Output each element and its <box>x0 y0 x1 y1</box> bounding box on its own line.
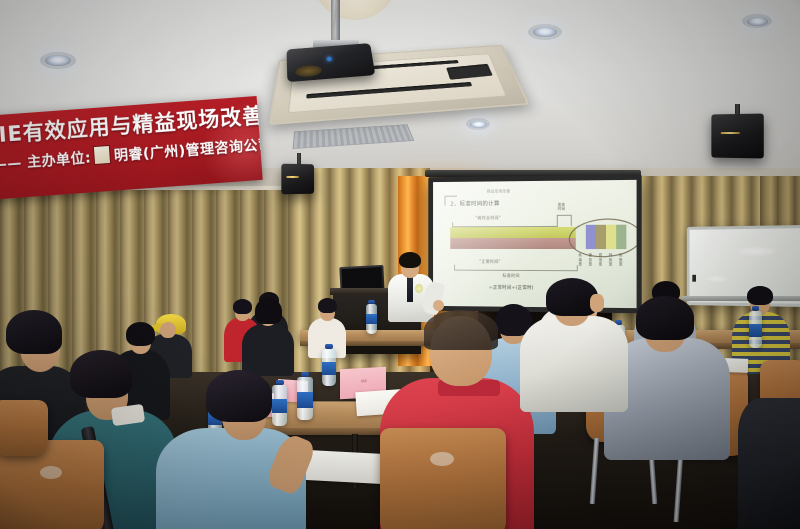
speaker-logo-right <box>721 132 740 134</box>
slide-highlight-ellipse <box>568 217 637 259</box>
attendee-hair <box>636 296 694 340</box>
slide-topright-tick <box>557 215 572 226</box>
slide-top-measure-line <box>452 222 558 227</box>
attendee-hair <box>255 298 282 324</box>
speaker-logo-left <box>286 176 299 178</box>
slide-bar-segment-bottom <box>450 238 576 249</box>
slide-title-bracket <box>445 196 457 206</box>
organizer-logo-icon <box>93 145 111 165</box>
slide-bar-segment-allowance <box>576 227 587 249</box>
whiteboard-glare-secondary <box>706 276 727 282</box>
chair-front-center <box>380 428 506 529</box>
chair-mid-left <box>0 400 48 456</box>
water-bottle-3 <box>272 380 287 426</box>
presenter-tie <box>407 276 413 302</box>
attendee-head <box>160 322 176 338</box>
bottle-label <box>749 324 762 337</box>
attendee-hair <box>6 310 62 354</box>
allowance-segment-1 <box>576 225 586 249</box>
bottle-label <box>297 392 313 408</box>
projection-screen-frame: 精益现场改善 2、标准时间的计算 宽放时间 "纯作业时间" 私事宽 疲劳宽 <box>428 175 641 314</box>
attendee-hair <box>747 286 773 305</box>
slide-header-note: 精益现场改善 <box>487 189 510 194</box>
attendee-hair <box>318 298 337 313</box>
allowance-label-2: 疲劳宽 <box>586 253 595 267</box>
allowance-label-5: 政策宽 <box>616 253 625 267</box>
chair-handle-hole <box>430 452 454 466</box>
slide-brace-label: 标准时间 <box>503 273 520 279</box>
attendee-hair <box>424 310 498 350</box>
downlight-3 <box>533 27 557 37</box>
attendee-hair <box>206 370 272 422</box>
allowance-segment-3 <box>596 225 606 249</box>
projector-led-indicator <box>327 57 332 62</box>
downlight-4 <box>747 17 768 26</box>
seminar-room-photo: 式IE有效应用与精益现场改善》 —— 主办单位:明睿(广州)管理咨询公司 精益现… <box>0 0 800 529</box>
handout-front <box>299 450 390 485</box>
projector-lens <box>295 65 322 78</box>
whiteboard <box>687 225 800 307</box>
presenter-corsage <box>415 284 423 293</box>
presenter-hand <box>433 300 444 311</box>
attendee-body <box>520 316 628 412</box>
wall-speaker-left <box>281 164 314 195</box>
bottle-label <box>366 314 377 324</box>
water-bottle-2 <box>297 372 313 420</box>
attendee-hair <box>70 350 132 398</box>
slide-bar-segment-top <box>450 227 576 238</box>
banner-organizer-name: 明睿(广州)管理咨询公司 <box>114 137 263 165</box>
slide-bar-label-bottom: "正常时间" <box>479 259 500 265</box>
chair-handle-hole <box>40 466 62 479</box>
slide-title: 2、标准时间的计算 <box>450 199 499 207</box>
allowance-segment-2 <box>586 225 596 249</box>
water-bottle-1 <box>322 344 336 386</box>
whiteboard-magnet <box>692 275 696 282</box>
water-bottle-7 <box>749 306 762 348</box>
allowance-segment-5 <box>616 225 626 249</box>
slide-allowance-segments <box>576 225 629 249</box>
projection-screen: 精益现场改善 2、标准时间的计算 宽放时间 "纯作业时间" 私事宽 疲劳宽 <box>433 180 637 308</box>
allowance-segment-4 <box>606 225 616 249</box>
banner-organizer-prefix: —— 主办单位: <box>0 150 92 173</box>
wall-speaker-right <box>711 114 763 159</box>
slide-formula: =正常时间+(正常时) <box>489 285 534 291</box>
name-card-text: 姓名 <box>352 379 376 384</box>
attendee-body <box>242 324 294 376</box>
bottle-label <box>322 362 336 375</box>
slide-topright-label: 宽放时间 <box>558 203 566 212</box>
downlight-5 <box>470 121 487 128</box>
attendee-hair <box>233 299 252 314</box>
slide-bar-label-top: "纯作业时间" <box>475 215 501 221</box>
water-bottle-5 <box>366 300 377 334</box>
slide-stacked-bar <box>450 227 576 249</box>
presenter-hair <box>399 252 421 268</box>
whiteboard-glare <box>738 247 775 256</box>
allowance-label-4: 特别宽 <box>606 253 615 267</box>
downlight-1 <box>45 55 71 66</box>
slide-standard-time-brace <box>454 265 578 272</box>
attendee-hand-to-face <box>590 294 604 312</box>
allowance-label-1: 私事宽 <box>576 253 585 267</box>
allowance-label-3: 现场宽 <box>596 253 605 267</box>
attendee-hair <box>126 322 155 346</box>
attendee-body <box>738 398 800 529</box>
bottle-label <box>272 399 287 413</box>
whiteboard-marker-tray <box>682 296 800 301</box>
